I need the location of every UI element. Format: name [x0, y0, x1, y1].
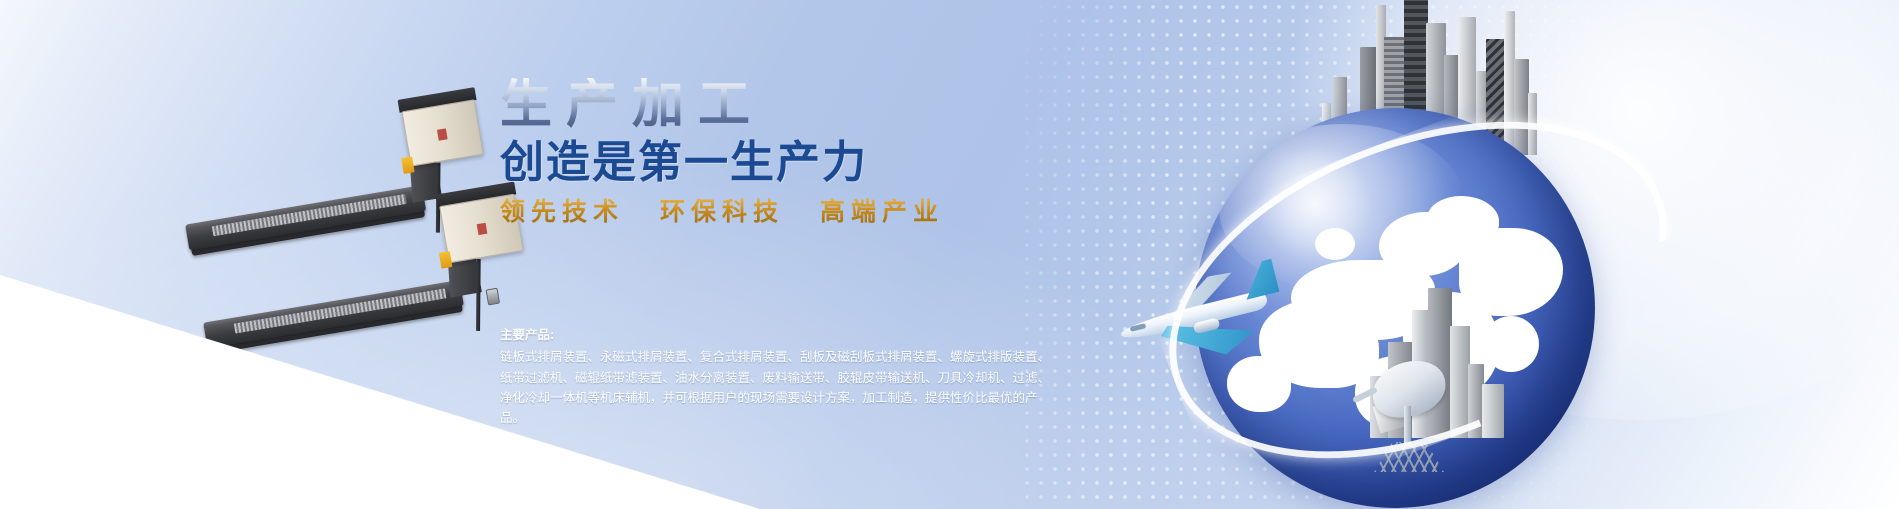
product-description-lead: 主要产品: [500, 325, 1060, 345]
tagline-item-3: 高端产业 [820, 197, 944, 227]
banner-taglines: 领先技术 环保科技 高端产业 [500, 197, 970, 227]
conveyor-warning-label [437, 128, 448, 140]
chip-conveyor-machines [140, 120, 540, 350]
conveyor-motor [486, 288, 500, 306]
tagline-item-2: 环保科技 [660, 197, 784, 227]
globe-graphic [1140, 0, 1700, 509]
conveyor-warning-label [477, 223, 488, 235]
product-description-body: 链板式排屑装置、永磁式排屑装置、复合式排屑装置、刮板及磁刮板式排屑装置、螺旋式排… [500, 347, 1060, 428]
banner-headline: 生产加工 [500, 78, 970, 133]
banner-subheadline: 创造是第一生产力 [500, 139, 970, 187]
headline-block: 生产加工 创造是第一生产力 领先技术 环保科技 高端产业 [500, 78, 970, 227]
conveyor-support-leg [476, 259, 481, 331]
tagline-item-1: 领先技术 [500, 197, 624, 227]
product-description-block: 主要产品: 链板式排屑装置、永磁式排屑装置、复合式排屑装置、刮板及磁刮板式排屑装… [500, 325, 1060, 428]
promo-banner: 生产加工 创造是第一生产力 领先技术 环保科技 高端产业 主要产品: 链板式排屑… [0, 0, 1899, 509]
